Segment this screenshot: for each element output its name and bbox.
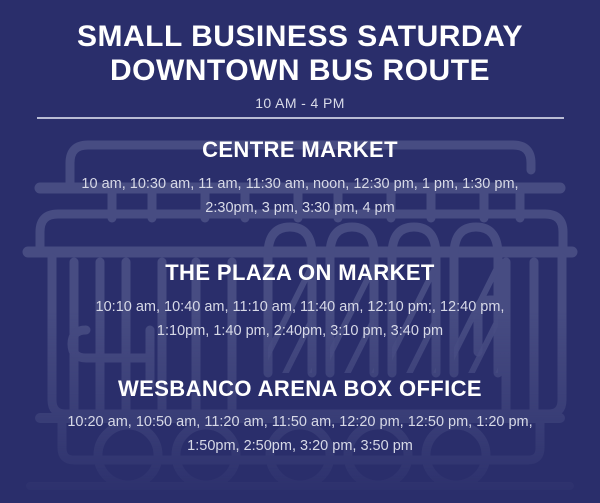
stop-times: 10:10 am, 10:40 am, 11:10 am, 11:40 am, … xyxy=(40,296,560,344)
stop-times: 10:20 am, 10:50 am, 11:20 am, 11:50 am, … xyxy=(40,411,560,459)
stop-name: WESBANCO ARENA BOX OFFICE xyxy=(0,376,600,402)
stop-times-line: 10:20 am, 10:50 am, 11:20 am, 11:50 am, … xyxy=(40,411,560,435)
stop-times-line: 10 am, 10:30 am, 11 am, 11:30 am, noon, … xyxy=(40,173,560,197)
poster-header: SMALL BUSINESS SATURDAY DOWNTOWN BUS ROU… xyxy=(0,0,600,119)
header-divider xyxy=(37,117,564,119)
stop-times-line: 1:10pm, 1:40 pm, 2:40pm, 3:10 pm, 3:40 p… xyxy=(40,320,560,344)
hours-subtitle: 10 AM - 4 PM xyxy=(30,95,570,111)
stop-section-centre-market: CENTRE MARKET 10 am, 10:30 am, 11 am, 11… xyxy=(0,137,600,220)
page-title-line-2: DOWNTOWN BUS ROUTE xyxy=(30,54,570,88)
poster-content: SMALL BUSINESS SATURDAY DOWNTOWN BUS ROU… xyxy=(0,0,600,503)
stop-section-wesbanco-arena-box-office: WESBANCO ARENA BOX OFFICE 10:20 am, 10:5… xyxy=(0,376,600,459)
page-title-line-1: SMALL BUSINESS SATURDAY xyxy=(30,20,570,54)
stop-name: THE PLAZA ON MARKET xyxy=(0,260,600,286)
stop-section-plaza-on-market: THE PLAZA ON MARKET 10:10 am, 10:40 am, … xyxy=(0,260,600,343)
stop-times-line: 10:10 am, 10:40 am, 11:10 am, 11:40 am, … xyxy=(40,296,560,320)
stop-times-line: 2:30pm, 3 pm, 3:30 pm, 4 pm xyxy=(40,197,560,221)
stop-times: 10 am, 10:30 am, 11 am, 11:30 am, noon, … xyxy=(40,173,560,221)
stop-times-line: 1:50pm, 2:50pm, 3:20 pm, 3:50 pm xyxy=(40,435,560,459)
stop-name: CENTRE MARKET xyxy=(0,137,600,163)
bus-route-poster: SMALL BUSINESS SATURDAY DOWNTOWN BUS ROU… xyxy=(0,0,600,503)
